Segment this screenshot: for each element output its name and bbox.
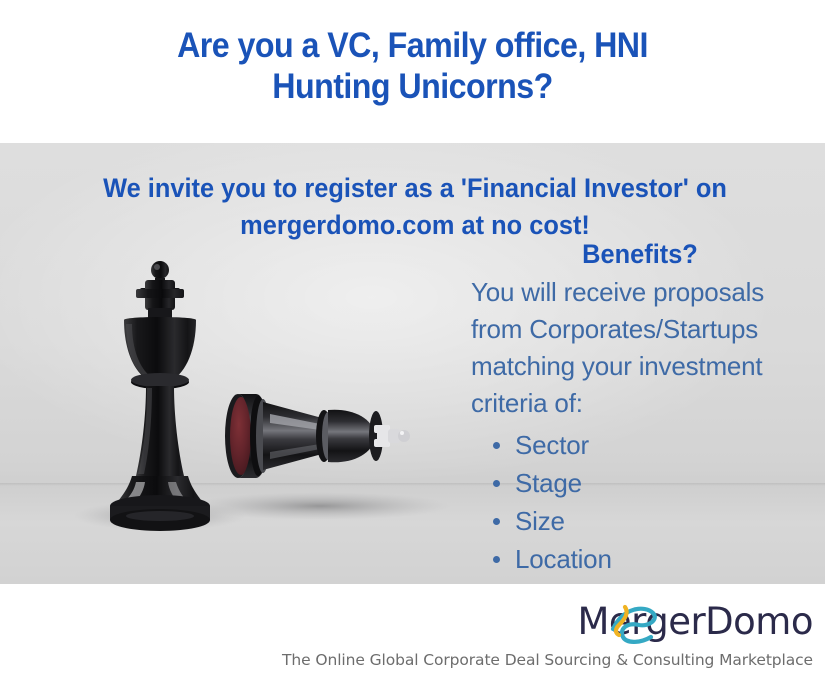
- photo-stage: We invite you to register as a 'Financia…: [0, 143, 825, 584]
- benefits-heading: Benefits?: [480, 238, 800, 270]
- footer-band: MergerDomo The Online Global Corporate D…: [0, 584, 825, 691]
- list-item-label: Location: [515, 544, 612, 574]
- list-item-label: Size: [515, 506, 565, 536]
- bullet-icon: [493, 518, 500, 525]
- page-title: Are you a VC, Family office, HNI Hunting…: [33, 25, 792, 107]
- list-item: Sector: [487, 426, 817, 464]
- benefits-criteria-list: Sector Stage Size Location: [487, 426, 817, 578]
- brand-logo-wordmark: MergerDomo: [513, 600, 813, 644]
- bullet-icon: [493, 556, 500, 563]
- brand-tagline: The Online Global Corporate Deal Sourcin…: [253, 650, 813, 670]
- bullet-icon: [493, 480, 500, 487]
- invite-text: We invite you to register as a 'Financia…: [67, 170, 763, 244]
- list-item-label: Stage: [515, 468, 582, 498]
- brand-logo: MergerDomo: [513, 600, 813, 646]
- bullet-icon: [493, 442, 500, 449]
- poster-canvas: Are you a VC, Family office, HNI Hunting…: [0, 0, 825, 691]
- chess-kings-image: [40, 248, 460, 578]
- list-item: Stage: [487, 464, 817, 502]
- headline-band: Are you a VC, Family office, HNI Hunting…: [0, 0, 825, 143]
- list-item: Location: [487, 540, 817, 578]
- list-item-label: Sector: [515, 430, 589, 460]
- list-item: Size: [487, 502, 817, 540]
- benefits-description: You will receive proposals from Corporat…: [471, 274, 821, 422]
